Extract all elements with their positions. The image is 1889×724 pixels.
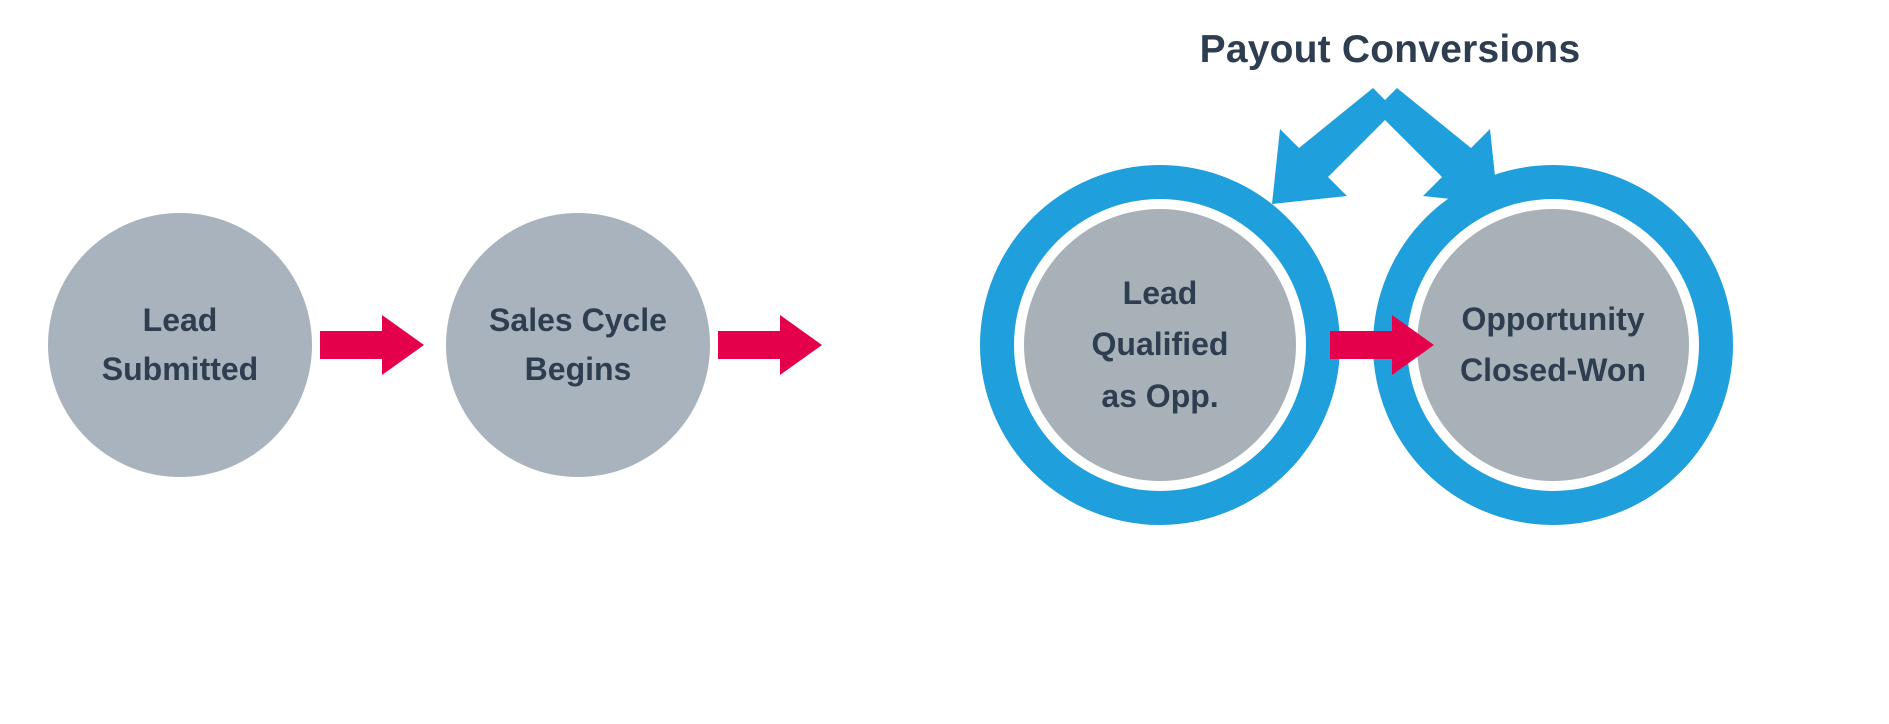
stage-circle[interactable]: Lead Submitted [48,213,312,477]
stage-ring-gap: Lead Qualified as Opp. [1014,199,1306,491]
stage-circle[interactable]: Lead Qualified as Opp. [1024,209,1296,481]
stage-highlight-ring: Lead Qualified as Opp. [980,165,1340,525]
stage-label: Lead Submitted [59,296,302,394]
callout-arrow-left-icon [1272,88,1395,204]
right-arrow-icon [1330,313,1434,377]
diagram-canvas: Payout Conversions Lead Submitted Sales … [0,0,1889,724]
stage-circle[interactable]: Opportunity Closed-Won [1417,209,1689,481]
flow-arrow-lead-submitted-to-sales-cycle-begins [320,313,424,377]
right-arrow-icon [320,313,424,377]
stage-label: Sales Cycle Begins [457,296,700,394]
stage-ring-gap: Opportunity Closed-Won [1407,199,1699,491]
right-arrow-icon [718,313,822,377]
flow-arrow-sales-cycle-begins-to-lead-qualified [718,313,822,377]
stage-circle[interactable]: Sales Cycle Begins [446,213,710,477]
flow-arrow-lead-qualified-to-opportunity-closed-won [1330,313,1434,377]
page-title: Payout Conversions [1150,28,1630,72]
stage-label: Lead Qualified as Opp. [1035,268,1285,422]
stage-label: Opportunity Closed-Won [1428,294,1678,396]
